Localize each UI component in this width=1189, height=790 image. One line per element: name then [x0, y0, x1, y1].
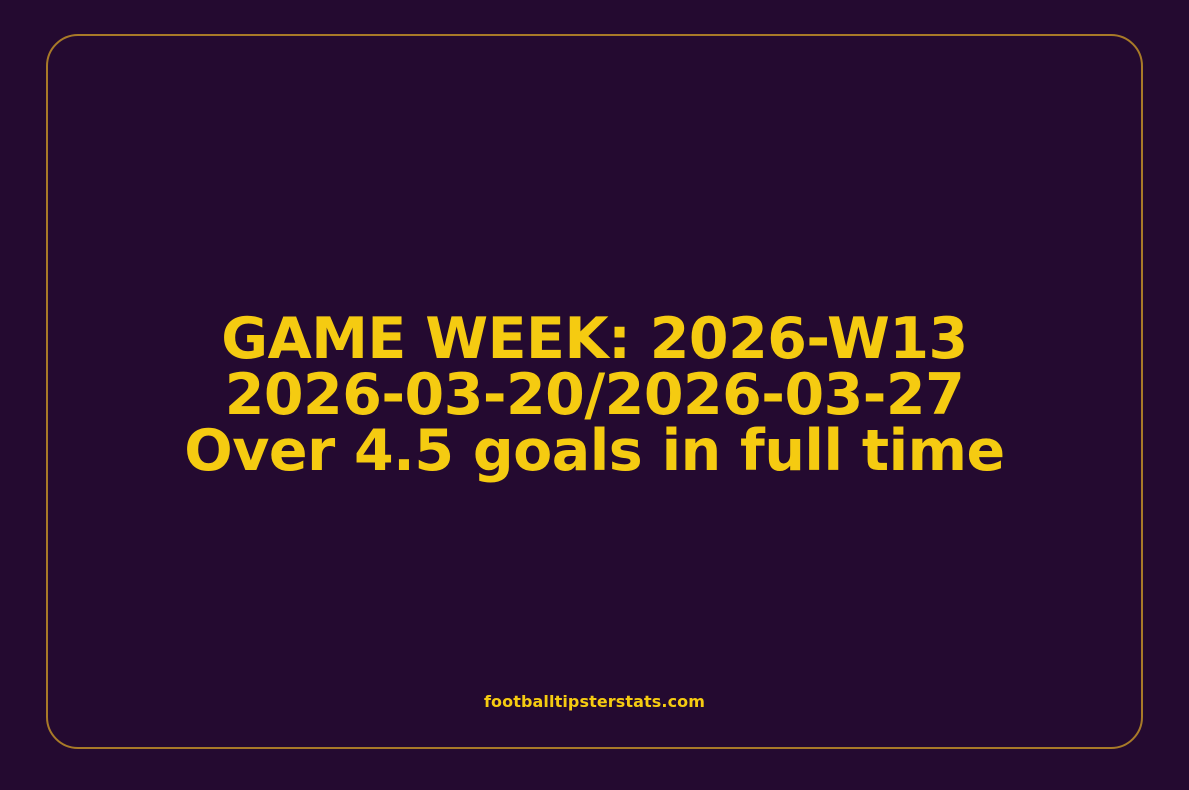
rounded-gold-border [46, 34, 1143, 749]
banner-root: GAME WEEK: 2026-W13 2026-03-20/2026-03-2… [0, 0, 1189, 790]
site-credit: footballtipsterstats.com [0, 692, 1189, 712]
